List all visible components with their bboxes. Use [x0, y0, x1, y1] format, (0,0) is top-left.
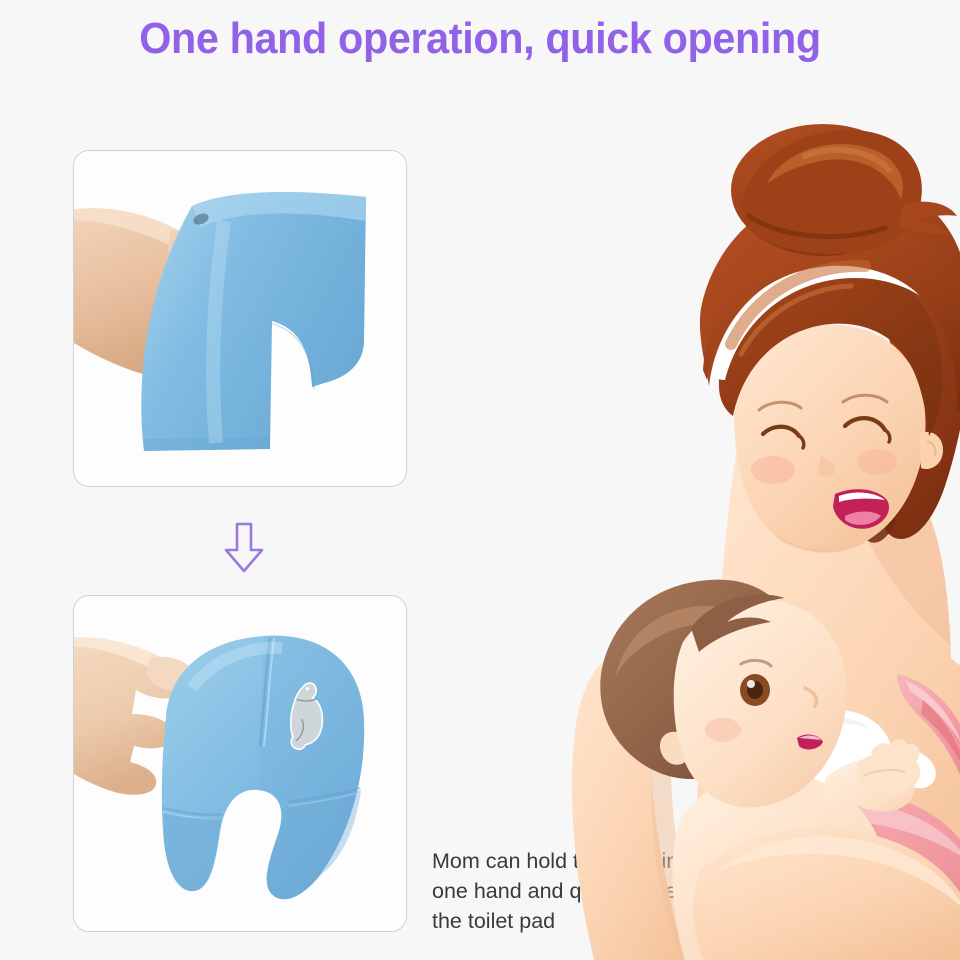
photo-clip-folded: [74, 151, 406, 486]
product-photo-folded: [73, 150, 407, 487]
page-title: One hand operation, quick opening: [29, 14, 931, 64]
arrow-down-icon: [222, 520, 266, 576]
product-photo-open: [73, 595, 407, 932]
mother-holding-baby: [505, 118, 960, 960]
photo-clip-open: [74, 596, 406, 931]
folded-pad-illustration: [74, 151, 406, 486]
open-pad-illustration: [74, 596, 406, 931]
infographic-canvas: One hand operation, quick opening: [0, 0, 960, 960]
